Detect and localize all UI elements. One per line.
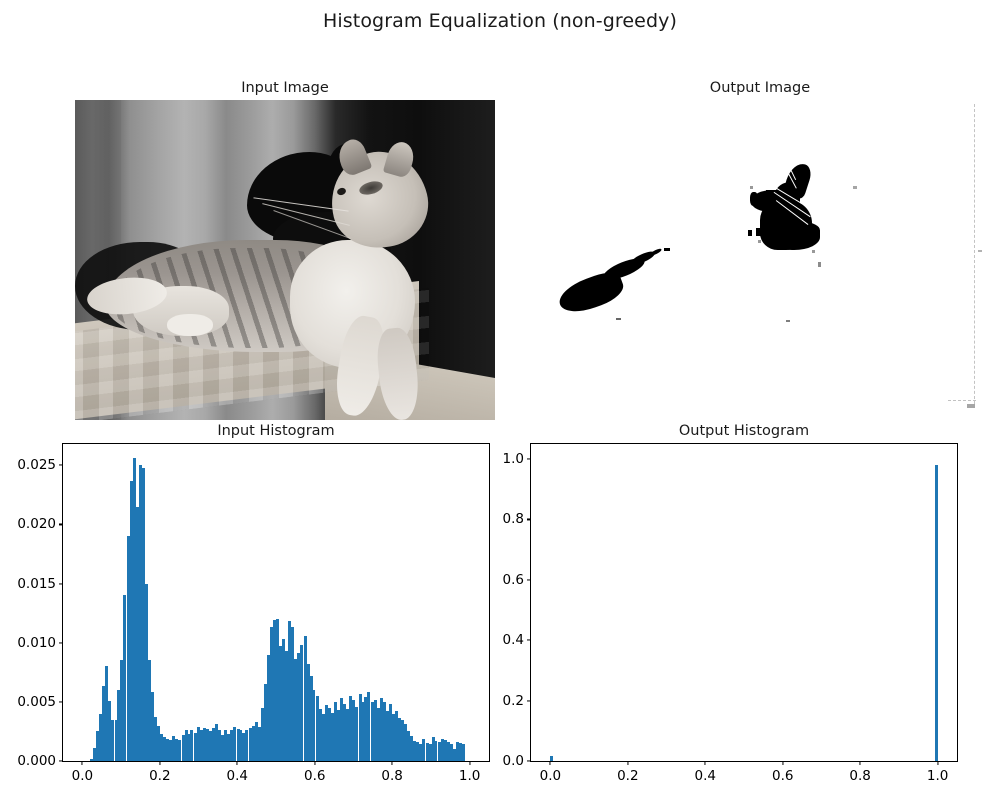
x-axis-tick-mark xyxy=(860,761,861,765)
y-axis-tick-mark xyxy=(527,579,531,580)
y-axis-tick-label: 0.000 xyxy=(17,753,63,769)
input-image-content xyxy=(75,100,495,420)
y-axis-tick-label: 0.025 xyxy=(17,457,63,473)
y-axis-tick-mark xyxy=(59,701,63,702)
y-axis-tick-label: 0.005 xyxy=(17,694,63,710)
output-histogram-title: Output Histogram xyxy=(530,423,958,439)
y-axis-tick-mark xyxy=(527,700,531,701)
y-axis-tick-label: 0.015 xyxy=(17,576,63,592)
y-axis-tick-mark xyxy=(59,642,63,643)
y-axis-tick-label: 0.010 xyxy=(17,635,63,651)
x-axis-tick-mark xyxy=(937,761,938,765)
output-histogram-plot-area xyxy=(531,444,957,761)
y-axis-tick-mark xyxy=(59,524,63,525)
x-axis-tick-mark xyxy=(237,761,238,765)
x-axis-tick-mark xyxy=(782,761,783,765)
figure-suptitle: Histogram Equalization (non-greedy) xyxy=(0,10,1000,32)
figure-canvas: Histogram Equalization (non-greedy) Inpu… xyxy=(0,0,1000,800)
output-image-panel xyxy=(512,100,1000,420)
x-axis-tick-mark xyxy=(314,761,315,765)
y-axis-tick-mark xyxy=(527,640,531,641)
output-histogram-axes[interactable]: 0.00.20.40.60.81.00.00.20.40.60.81.0 xyxy=(530,443,958,762)
input-histogram-axes[interactable]: 0.0000.0050.0100.0150.0200.0250.00.20.40… xyxy=(62,443,490,762)
x-axis-tick-mark xyxy=(705,761,706,765)
x-axis-tick-mark xyxy=(469,761,470,765)
histogram-bar xyxy=(462,744,465,761)
y-axis-tick-mark xyxy=(59,465,63,466)
y-axis-tick-mark xyxy=(59,583,63,584)
y-axis-tick-mark xyxy=(527,459,531,460)
histogram-bar xyxy=(935,465,938,761)
input-histogram-plot-area xyxy=(63,444,489,761)
input-histogram-title: Input Histogram xyxy=(62,423,490,439)
input-image-title: Input Image xyxy=(75,80,495,96)
x-axis-tick-mark xyxy=(159,761,160,765)
x-axis-tick-mark xyxy=(627,761,628,765)
y-axis-tick-mark xyxy=(527,760,531,761)
y-axis-tick-label: 0.020 xyxy=(17,516,63,532)
x-axis-tick-mark xyxy=(82,761,83,765)
y-axis-tick-mark xyxy=(527,519,531,520)
input-image-panel xyxy=(75,100,495,420)
output-image-content xyxy=(512,100,1000,420)
x-axis-tick-mark xyxy=(392,761,393,765)
x-axis-tick-mark xyxy=(550,761,551,765)
y-axis-tick-mark xyxy=(59,760,63,761)
output-image-title: Output Image xyxy=(560,80,960,96)
